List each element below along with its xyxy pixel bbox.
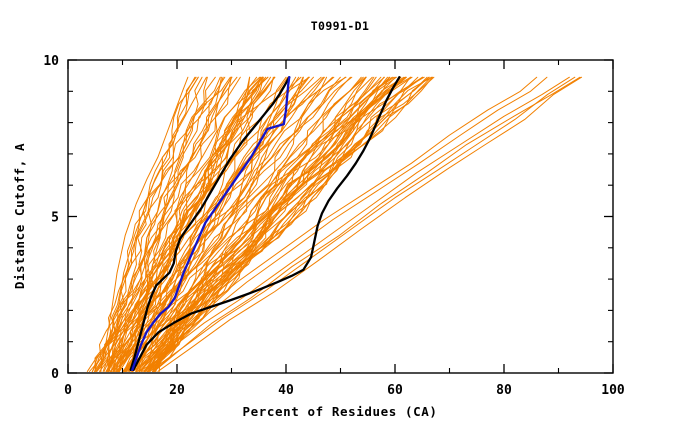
y-tick-label: 5	[51, 211, 59, 226]
y-tick-label: 10	[43, 54, 59, 69]
x-tick-label: 40	[278, 383, 294, 398]
chart-canvas	[0, 0, 680, 440]
chart-figure: T0991-D1 020406080100 0510 Percent of Re…	[0, 0, 680, 440]
x-axis-title: Percent of Residues (CA)	[242, 404, 437, 419]
x-tick-label: 20	[169, 383, 185, 398]
chart-title: T0991-D1	[311, 19, 370, 33]
x-tick-label: 100	[601, 383, 625, 398]
x-tick-label: 60	[387, 383, 403, 398]
x-tick-label: 80	[496, 383, 512, 398]
x-tick-label: 0	[64, 383, 72, 398]
y-axis-title: Distance Cutoff, A	[12, 143, 27, 289]
y-tick-label: 0	[51, 367, 59, 382]
